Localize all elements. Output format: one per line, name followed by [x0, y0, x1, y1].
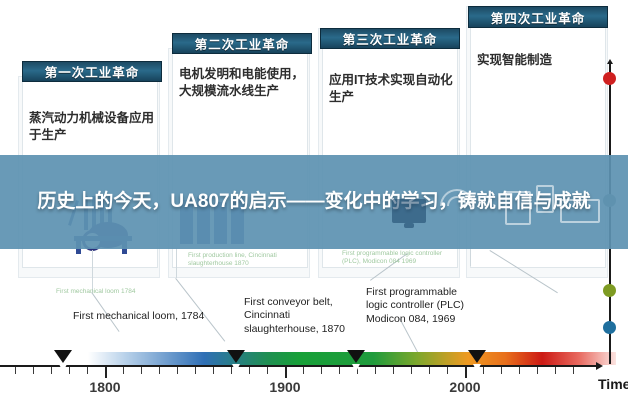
tick-minor — [195, 367, 196, 374]
tick-minor — [177, 367, 178, 374]
tick-minor — [249, 367, 250, 374]
tick-minor — [519, 367, 520, 374]
tick-minor — [123, 367, 124, 374]
blue-dot — [603, 321, 616, 334]
olive-dot — [603, 284, 616, 297]
tick-minor — [321, 367, 322, 374]
tick-minor — [501, 367, 502, 374]
timeline-arrow-icon — [596, 362, 603, 370]
timeline-marker-1784[interactable] — [54, 350, 72, 363]
red-dot — [603, 72, 616, 85]
tick-major-1900 — [285, 367, 287, 378]
revolution-card-2-header: 第二次工业革命 — [172, 33, 312, 54]
timeline-axis — [0, 365, 596, 367]
revolution-card-1-header-label: 第一次工业革命 — [45, 62, 140, 81]
tick-minor — [393, 367, 394, 374]
tick-minor — [483, 367, 484, 374]
laptop-icon — [560, 199, 600, 223]
tick-minor — [15, 367, 16, 374]
tick-minor — [411, 367, 412, 374]
tick-minor — [429, 367, 430, 374]
timeline-marker-1969[interactable] — [347, 350, 365, 363]
timeline-marker-1870[interactable] — [227, 350, 245, 363]
timeline-axis-label: Time — [598, 376, 628, 392]
leader-line-3 — [470, 248, 471, 266]
tablet-icon — [505, 191, 531, 225]
caption-first-mechanical-loom: First mechanical loom, 1784 — [73, 310, 218, 323]
tick-minor — [573, 367, 574, 374]
tick-major-1800 — [105, 367, 107, 378]
revolution-card-1-body: 蒸汽动力机械设备应用于生产 — [22, 106, 162, 148]
tick-minor — [447, 367, 448, 374]
caption-first-conveyor-belt: First conveyor belt, Cincinnati slaughte… — [244, 296, 352, 336]
phone-icon — [536, 185, 554, 213]
tick-minor — [87, 367, 88, 374]
tick-minor — [51, 367, 52, 374]
year-label-2000: 2000 — [435, 379, 495, 395]
infographic-canvas: 第一次工业革命 蒸汽动力机械设备应用于生产 第二次工业革命 电机发明和电能使用，… — [0, 0, 628, 400]
timeline-marker-2010s[interactable] — [468, 350, 486, 363]
tick-minor — [69, 367, 70, 374]
revolution-card-3-header-label: 第三次工业革命 — [343, 29, 438, 48]
ghost-caption-3: First programmable logic controller (PLC… — [342, 250, 452, 266]
ghost-caption-1: First mechanical loom 1784 — [56, 288, 136, 296]
year-label-1800: 1800 — [75, 379, 135, 395]
tick-minor — [339, 367, 340, 374]
revolution-card-2-body: 电机发明和电能使用，大规模流水线生产 — [172, 62, 312, 104]
revolution-card-4-body: 实现智能制造 — [470, 48, 610, 73]
tick-minor — [33, 367, 34, 374]
revolution-card-3-body: 应用IT技术实现自动化生产 — [322, 68, 462, 110]
revolution-card-2-header-label: 第二次工业革命 — [195, 34, 290, 53]
revolution-card-1-header: 第一次工业革命 — [22, 61, 162, 82]
year-label-1900: 1900 — [255, 379, 315, 395]
caption-first-plc: First programmable logic controller (PLC… — [366, 286, 470, 326]
revolution-card-4-header: 第四次工业革命 — [468, 6, 608, 28]
tick-minor — [375, 367, 376, 374]
tick-minor — [555, 367, 556, 374]
tick-minor — [267, 367, 268, 374]
tick-minor — [159, 367, 160, 374]
tick-minor — [213, 367, 214, 374]
revolution-card-3-header: 第三次工业革命 — [320, 28, 460, 49]
revolution-card-4-header-label: 第四次工业革命 — [491, 8, 586, 27]
leader-line-1 — [92, 250, 93, 292]
title-overlay-banner: 历史上的今天，UA807的启示——变化中的学习，铸就自信与成就 — [0, 155, 628, 249]
ghost-caption-2: First production line, Cincinnati slaugh… — [188, 252, 280, 268]
monitor-icon — [392, 199, 426, 223]
tick-minor — [141, 367, 142, 374]
leader-line-2 — [176, 248, 177, 278]
tick-minor — [537, 367, 538, 374]
tick-minor — [303, 367, 304, 374]
tick-major-2000 — [465, 367, 467, 378]
monitor-stand-icon — [404, 223, 414, 228]
vertical-axis-arrow-icon — [607, 59, 613, 64]
